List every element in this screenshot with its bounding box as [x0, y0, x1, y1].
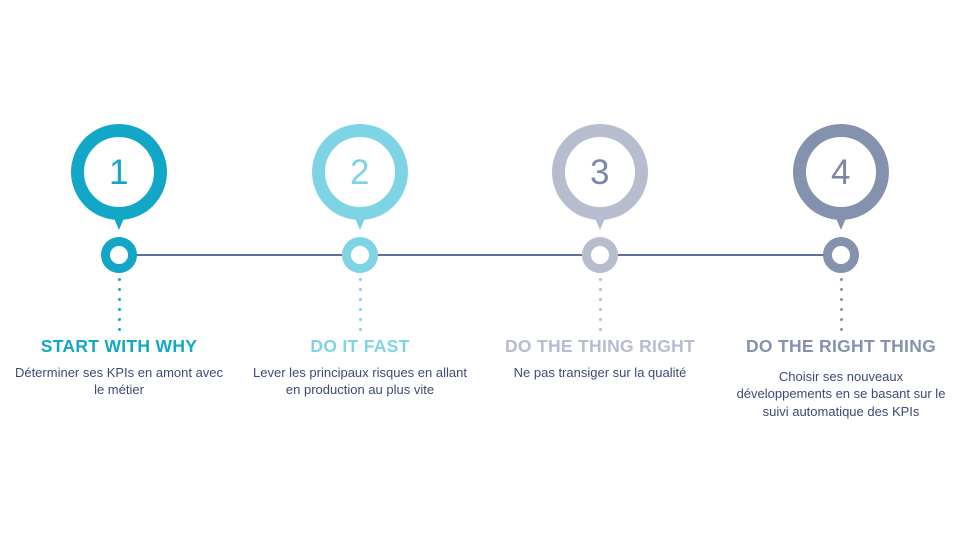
timeline-step-4[interactable]: 4 DO THE RIGHT THING Choisir ses nouveau…: [721, 0, 960, 540]
timeline-step-2[interactable]: 2 DO IT FAST Lever les principaux risque…: [240, 0, 480, 540]
step-body-2: Lever les principaux risques en allant e…: [252, 364, 468, 399]
step-title-1: START WITH WHY: [11, 336, 227, 358]
timeline-step-1[interactable]: 1 START WITH WHY Déterminer ses KPIs en …: [0, 0, 239, 540]
step-marker-pin-4[interactable]: 4: [793, 124, 889, 220]
axis-node-4[interactable]: [823, 237, 859, 273]
step-number-4: 4: [793, 124, 889, 220]
step-caption-2: DO IT FAST Lever les principaux risques …: [240, 336, 480, 399]
timeline-step-3[interactable]: 3 DO THE THING RIGHT Ne pas transiger su…: [480, 0, 720, 540]
step-caption-3: DO THE THING RIGHT Ne pas transiger sur …: [480, 336, 720, 381]
step-marker-pin-1[interactable]: 1: [71, 124, 167, 220]
dotted-connector-3: [599, 278, 602, 336]
step-caption-1: START WITH WHY Déterminer ses KPIs en am…: [0, 336, 239, 399]
step-body-3: Ne pas transiger sur la qualité: [492, 364, 708, 382]
step-title-2: DO IT FAST: [252, 336, 468, 358]
step-marker-pin-3[interactable]: 3: [552, 124, 648, 220]
dotted-connector-4: [840, 278, 843, 336]
step-body-4: Choisir ses nouveaux développements en s…: [733, 368, 949, 421]
dotted-connector-1: [118, 278, 121, 336]
step-number-2: 2: [312, 124, 408, 220]
timeline-diagram: 1 START WITH WHY Déterminer ses KPIs en …: [0, 0, 960, 540]
step-body-1: Déterminer ses KPIs en amont avec le mét…: [11, 364, 227, 399]
axis-node-3[interactable]: [582, 237, 618, 273]
step-number-1: 1: [71, 124, 167, 220]
step-title-4: DO THE RIGHT THING: [733, 336, 949, 358]
step-title-3: DO THE THING RIGHT: [492, 336, 708, 358]
dotted-connector-2: [359, 278, 362, 336]
step-marker-pin-2[interactable]: 2: [312, 124, 408, 220]
axis-node-1[interactable]: [101, 237, 137, 273]
step-caption-4: DO THE RIGHT THING Choisir ses nouveaux …: [721, 336, 960, 421]
axis-node-2[interactable]: [342, 237, 378, 273]
step-number-3: 3: [552, 124, 648, 220]
